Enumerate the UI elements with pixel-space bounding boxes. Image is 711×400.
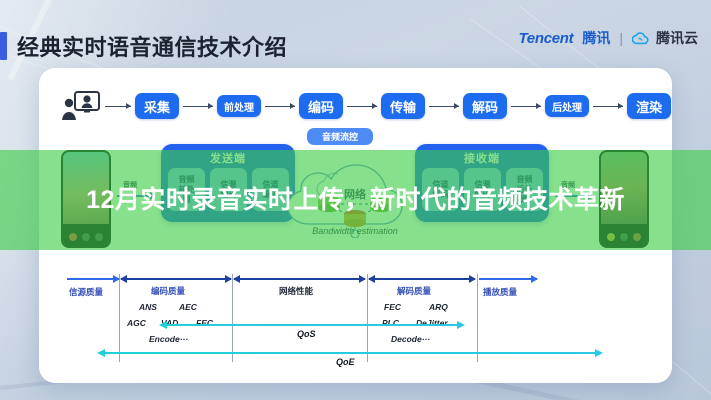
pipeline-arrow bbox=[429, 102, 459, 111]
pipeline-arrow bbox=[183, 102, 213, 111]
user-desktop-icon bbox=[61, 91, 101, 121]
encode-tech-aec: AEC bbox=[179, 302, 197, 312]
segment-network-performance bbox=[234, 274, 365, 284]
decode-caption: Decode··· bbox=[391, 334, 430, 344]
pipeline-arrow bbox=[593, 102, 623, 111]
qoe-label: QoE bbox=[336, 357, 355, 367]
overlay-headline: 12月实时录音实时上传，新时代的音频技术革新 bbox=[0, 150, 711, 250]
encode-tech-ans: ANS bbox=[139, 302, 157, 312]
qos-label: QoS bbox=[297, 329, 316, 339]
pipeline-step-bianma[interactable]: 编码 bbox=[299, 93, 343, 119]
pipeline-arrow bbox=[105, 102, 131, 111]
pipeline-step-houchuli[interactable]: 后处理 bbox=[545, 95, 589, 117]
pipeline-step-qianchuli[interactable]: 前处理 bbox=[217, 95, 261, 117]
segment-playback-quality bbox=[479, 274, 537, 284]
page-title: 经典实时语音通信技术介绍 bbox=[0, 31, 287, 61]
qos-arrow-right bbox=[457, 321, 465, 329]
label-network-performance: 网络性能 bbox=[279, 285, 313, 297]
pipeline-row: 采集 前处理 编码 传输 解码 后处理 渲染 bbox=[39, 84, 672, 128]
segment-encode-quality bbox=[121, 274, 231, 284]
decode-tech-plc: PLC bbox=[382, 318, 399, 328]
pipeline-step-xuanran[interactable]: 渲染 bbox=[627, 93, 671, 119]
segment-source-quality bbox=[67, 274, 119, 284]
pipeline-step-chuanshu[interactable]: 传输 bbox=[381, 93, 425, 119]
title-accent-bar bbox=[0, 32, 7, 60]
encode-caption: Encode··· bbox=[149, 334, 188, 344]
quality-metrics: 信源质量 编码质量 网络性能 解码质量 播放质量 ANS AEC AGC VAD… bbox=[39, 274, 672, 383]
qos-line bbox=[161, 324, 461, 326]
encode-tech-fec: FEC bbox=[196, 318, 213, 328]
flow-control-box: 音频流控 bbox=[307, 128, 373, 145]
pipeline-arrow bbox=[347, 102, 377, 111]
qos-arrow-left bbox=[159, 321, 167, 329]
qoe-arrow-right bbox=[595, 349, 603, 357]
qoe-line bbox=[99, 352, 599, 354]
qoe-arrow-left bbox=[97, 349, 105, 357]
decode-tech-fec: FEC bbox=[384, 302, 401, 312]
pipeline-step-caiji[interactable]: 采集 bbox=[135, 93, 179, 119]
brand-separator: | bbox=[619, 30, 623, 46]
encode-tech-agc: AGC bbox=[127, 318, 146, 328]
pipeline-arrow bbox=[511, 102, 541, 111]
slide-screenshot: 经典实时语音通信技术介绍 Tencent 腾讯 | 腾讯云 bbox=[0, 0, 711, 400]
decode-tech-arq: ARQ bbox=[429, 302, 448, 312]
label-decode-quality: 解码质量 bbox=[397, 285, 431, 297]
tencent-wordmark: Tencent bbox=[519, 30, 574, 47]
title-text: 经典实时语音通信技术介绍 bbox=[17, 30, 287, 62]
tencent-wordmark-cn: 腾讯 bbox=[582, 28, 610, 48]
brand-lockup: Tencent 腾讯 | 腾讯云 bbox=[519, 28, 699, 48]
decode-tech-dejitter: DeJitter bbox=[416, 318, 448, 328]
cloud-icon bbox=[632, 32, 649, 45]
label-playback-quality: 播放质量 bbox=[483, 286, 517, 298]
segment-decode-quality bbox=[369, 274, 475, 284]
pipeline-step-jiema[interactable]: 解码 bbox=[463, 93, 507, 119]
pipeline-arrow bbox=[265, 102, 295, 111]
label-encode-quality: 编码质量 bbox=[151, 285, 185, 297]
tencent-cloud-label: 腾讯云 bbox=[656, 28, 698, 48]
label-source-quality: 信源质量 bbox=[69, 286, 103, 298]
